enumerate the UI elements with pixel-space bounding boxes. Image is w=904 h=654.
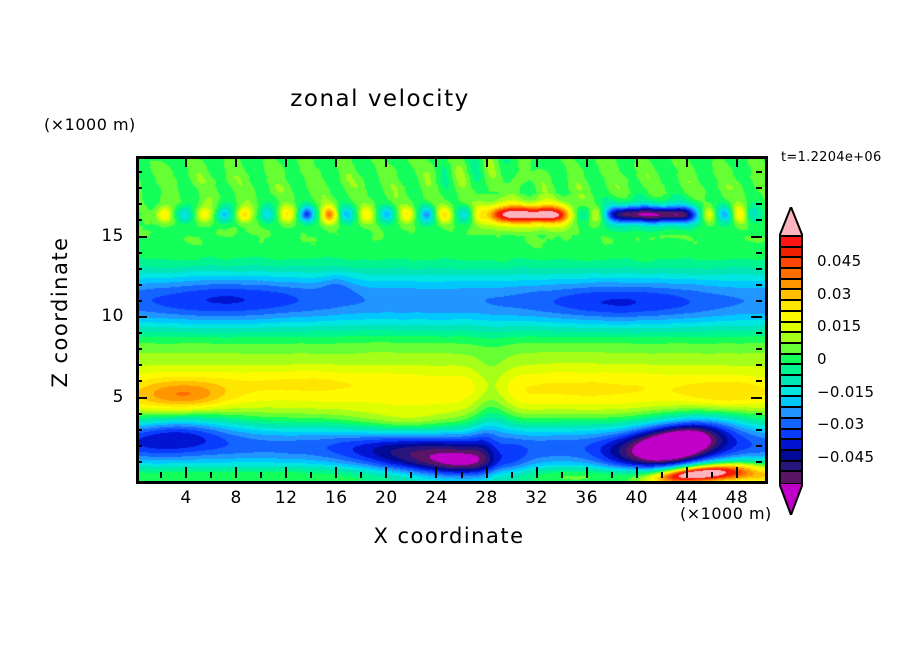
y-minor-tick: [136, 348, 142, 350]
x-tick-mark: [736, 467, 738, 478]
x-tick-mark-top: [435, 156, 437, 167]
colorbar-segment: [781, 462, 801, 473]
x-minor-tick: [461, 472, 463, 478]
x-tick-mark: [335, 467, 337, 478]
y-minor-tick: [136, 219, 142, 221]
colorbar-tick-label: −0.03: [817, 415, 864, 433]
x-minor-tick: [160, 472, 162, 478]
x-tick-mark: [235, 467, 237, 478]
x-minor-tick: [661, 472, 663, 478]
colorbar-segment: [781, 408, 801, 419]
y-tick-mark-right: [751, 316, 762, 318]
y-minor-tick: [136, 171, 142, 173]
x-tick-mark-top: [385, 156, 387, 167]
y-tick-label: 5: [78, 387, 124, 407]
x-tick-label: 36: [564, 488, 610, 508]
y-minor-tick: [136, 203, 142, 205]
colorbar-segment: [781, 237, 801, 248]
colorbar-segment: [781, 333, 801, 344]
y-tick-mark-right: [751, 397, 762, 399]
y-minor-tick: [136, 429, 142, 431]
colorbar-segments: [779, 235, 803, 485]
y-minor-tick: [136, 284, 142, 286]
colorbar-segment: [781, 312, 801, 323]
contour-field: [139, 159, 765, 481]
x-tick-label: 28: [464, 488, 510, 508]
y-minor-tick: [136, 413, 142, 415]
page-title: zonal velocity: [0, 86, 760, 112]
y-minor-tick-right: [756, 187, 762, 189]
x-tick-mark: [586, 467, 588, 478]
x-tick-mark-top: [586, 156, 588, 167]
colorbar-segment: [781, 387, 801, 398]
x-minor-tick: [260, 472, 262, 478]
y-tick-mark: [136, 236, 147, 238]
colorbar-segment: [781, 344, 801, 355]
y-minor-tick-right: [756, 219, 762, 221]
y-minor-tick-right: [756, 300, 762, 302]
colorbar-tick-label: 0.045: [817, 252, 861, 270]
y-minor-tick: [136, 445, 142, 447]
x-tick-label: 4: [163, 488, 209, 508]
y-minor-tick-right: [756, 348, 762, 350]
x-tick-label: 40: [614, 488, 660, 508]
colorbar-segment: [781, 258, 801, 269]
colorbar-segment: [781, 365, 801, 376]
x-tick-mark: [536, 467, 538, 478]
x-minor-tick: [410, 472, 412, 478]
y-minor-tick-right: [756, 364, 762, 366]
y-minor-tick-right: [756, 332, 762, 334]
x-tick-mark-top: [285, 156, 287, 167]
x-tick-mark-top: [686, 156, 688, 167]
colorbar-segment: [781, 280, 801, 291]
x-tick-mark: [385, 467, 387, 478]
colorbar-tick-label: −0.045: [817, 448, 874, 466]
y-minor-tick: [136, 300, 142, 302]
y-minor-tick: [136, 187, 142, 189]
x-tick-mark-top: [486, 156, 488, 167]
x-tick-mark-top: [335, 156, 337, 167]
colorbar-segment: [781, 323, 801, 334]
x-minor-tick: [310, 472, 312, 478]
y-minor-tick: [136, 268, 142, 270]
y-minor-tick: [136, 380, 142, 382]
x-tick-label: 12: [263, 488, 309, 508]
x-tick-label: 32: [514, 488, 560, 508]
colorbar-tick-label: 0.03: [817, 285, 852, 303]
colorbar-segment: [781, 248, 801, 259]
x-minor-tick: [511, 472, 513, 478]
x-tick-label: 24: [413, 488, 459, 508]
x-minor-tick: [711, 472, 713, 478]
x-tick-label: 48: [714, 488, 760, 508]
y-minor-tick-right: [756, 461, 762, 463]
figure-canvas: zonal velocity (×1000 m) t=1.2204e+06 Z …: [0, 0, 904, 654]
x-tick-label: 20: [363, 488, 409, 508]
colorbar-segment: [781, 430, 801, 441]
y-minor-tick-right: [756, 445, 762, 447]
y-axis-title: Z coordinate: [48, 212, 72, 412]
x-axis-title: X coordinate: [136, 524, 762, 548]
colorbar-segment: [781, 419, 801, 430]
y-minor-tick-right: [756, 380, 762, 382]
x-tick-label: 16: [313, 488, 359, 508]
colorbar-segment: [781, 440, 801, 451]
colorbar-segment: [781, 397, 801, 408]
y-minor-tick-right: [756, 203, 762, 205]
y-tick-label: 15: [78, 226, 124, 246]
time-annotation: t=1.2204e+06: [781, 150, 882, 165]
y-tick-mark: [136, 397, 147, 399]
y-minor-tick: [136, 364, 142, 366]
y-minor-tick: [136, 332, 142, 334]
colorbar-top-arrow-icon: [779, 207, 803, 237]
colorbar-segment: [781, 290, 801, 301]
colorbar-segment: [781, 301, 801, 312]
colorbar-segment: [781, 472, 801, 483]
x-minor-tick: [561, 472, 563, 478]
y-tick-mark-right: [751, 236, 762, 238]
colorbar-tick-label: 0: [817, 350, 827, 368]
x-tick-label: 8: [213, 488, 259, 508]
x-tick-mark: [486, 467, 488, 478]
x-tick-mark-top: [736, 156, 738, 167]
x-minor-tick: [611, 472, 613, 478]
y-minor-tick: [136, 461, 142, 463]
x-minor-tick: [210, 472, 212, 478]
y-minor-tick: [136, 252, 142, 254]
colorbar-segment: [781, 451, 801, 462]
x-minor-tick: [360, 472, 362, 478]
x-tick-mark: [686, 467, 688, 478]
x-tick-mark-top: [536, 156, 538, 167]
y-axis-units-label: (×1000 m): [44, 115, 136, 134]
y-minor-tick-right: [756, 413, 762, 415]
y-tick-label: 10: [78, 306, 124, 326]
x-tick-mark-top: [636, 156, 638, 167]
colorbar-segment: [781, 269, 801, 280]
colorbar-segment: [781, 376, 801, 387]
y-minor-tick-right: [756, 171, 762, 173]
colorbar-segment: [781, 355, 801, 366]
y-minor-tick-right: [756, 284, 762, 286]
x-tick-mark: [285, 467, 287, 478]
contour-plot-area: [136, 156, 768, 484]
x-tick-mark-top: [185, 156, 187, 167]
x-tick-mark: [435, 467, 437, 478]
x-tick-mark: [636, 467, 638, 478]
x-tick-label: 44: [664, 488, 710, 508]
y-minor-tick-right: [756, 252, 762, 254]
colorbar-tick-label: 0.015: [817, 317, 861, 335]
x-tick-mark: [185, 467, 187, 478]
y-minor-tick-right: [756, 429, 762, 431]
colorbar-bottom-arrow-icon: [779, 483, 803, 515]
x-tick-mark-top: [235, 156, 237, 167]
colorbar-tick-label: −0.015: [817, 383, 874, 401]
y-tick-mark: [136, 316, 147, 318]
y-minor-tick-right: [756, 268, 762, 270]
colorbar: 0.0450.030.0150−0.015−0.03−0.045: [775, 207, 809, 517]
